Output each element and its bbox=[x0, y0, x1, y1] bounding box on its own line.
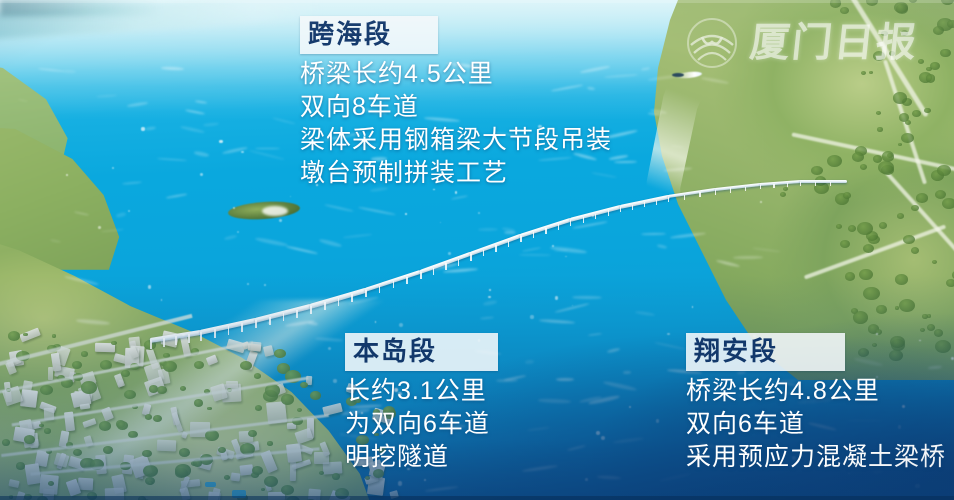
info-block-xiangan: 翔安段 桥梁长约4.8公里 双向6车道 采用预应力混凝土梁桥 bbox=[686, 333, 946, 474]
info-line: 梁体采用钢箱梁大节段吊装 bbox=[300, 124, 612, 157]
info-line: 采用预应力混凝土梁桥 bbox=[686, 441, 946, 474]
info-title-bendao: 本岛段 bbox=[345, 333, 498, 371]
infographic-image: 厦门日报 跨海段 桥梁长约4.5公里 双向8车道 梁体采用钢箱梁大节段吊装 墩台… bbox=[0, 0, 954, 500]
info-line: 桥梁长约4.5公里 bbox=[300, 58, 612, 91]
info-line: 双向8车道 bbox=[300, 91, 612, 124]
bottom-edge-bar bbox=[0, 496, 954, 500]
info-lines-bendao: 长约3.1公里 为双向6车道 明挖隧道 bbox=[345, 375, 498, 474]
watermark-text: 厦门日报 bbox=[748, 23, 920, 63]
info-title-kuahai: 跨海段 bbox=[300, 16, 438, 54]
info-line: 长约3.1公里 bbox=[345, 375, 498, 408]
info-line: 墩台预制拼装工艺 bbox=[300, 157, 612, 190]
xiamen-daily-wave-logo bbox=[686, 17, 738, 69]
top-edge-bar bbox=[0, 0, 954, 3]
watermark: 厦门日报 bbox=[686, 12, 936, 74]
info-line: 桥梁长约4.8公里 bbox=[686, 375, 946, 408]
info-line: 双向6车道 bbox=[686, 408, 946, 441]
info-title-xiangan: 翔安段 bbox=[686, 333, 845, 371]
info-line: 为双向6车道 bbox=[345, 408, 498, 441]
info-lines-xiangan: 桥梁长约4.8公里 双向6车道 采用预应力混凝土梁桥 bbox=[686, 375, 946, 474]
info-lines-kuahai: 桥梁长约4.5公里 双向8车道 梁体采用钢箱梁大节段吊装 墩台预制拼装工艺 bbox=[300, 58, 612, 190]
info-line: 明挖隧道 bbox=[345, 441, 498, 474]
info-block-bendao: 本岛段 长约3.1公里 为双向6车道 明挖隧道 bbox=[345, 333, 498, 474]
info-block-kuahai: 跨海段 桥梁长约4.5公里 双向8车道 梁体采用钢箱梁大节段吊装 墩台预制拼装工… bbox=[300, 16, 612, 190]
